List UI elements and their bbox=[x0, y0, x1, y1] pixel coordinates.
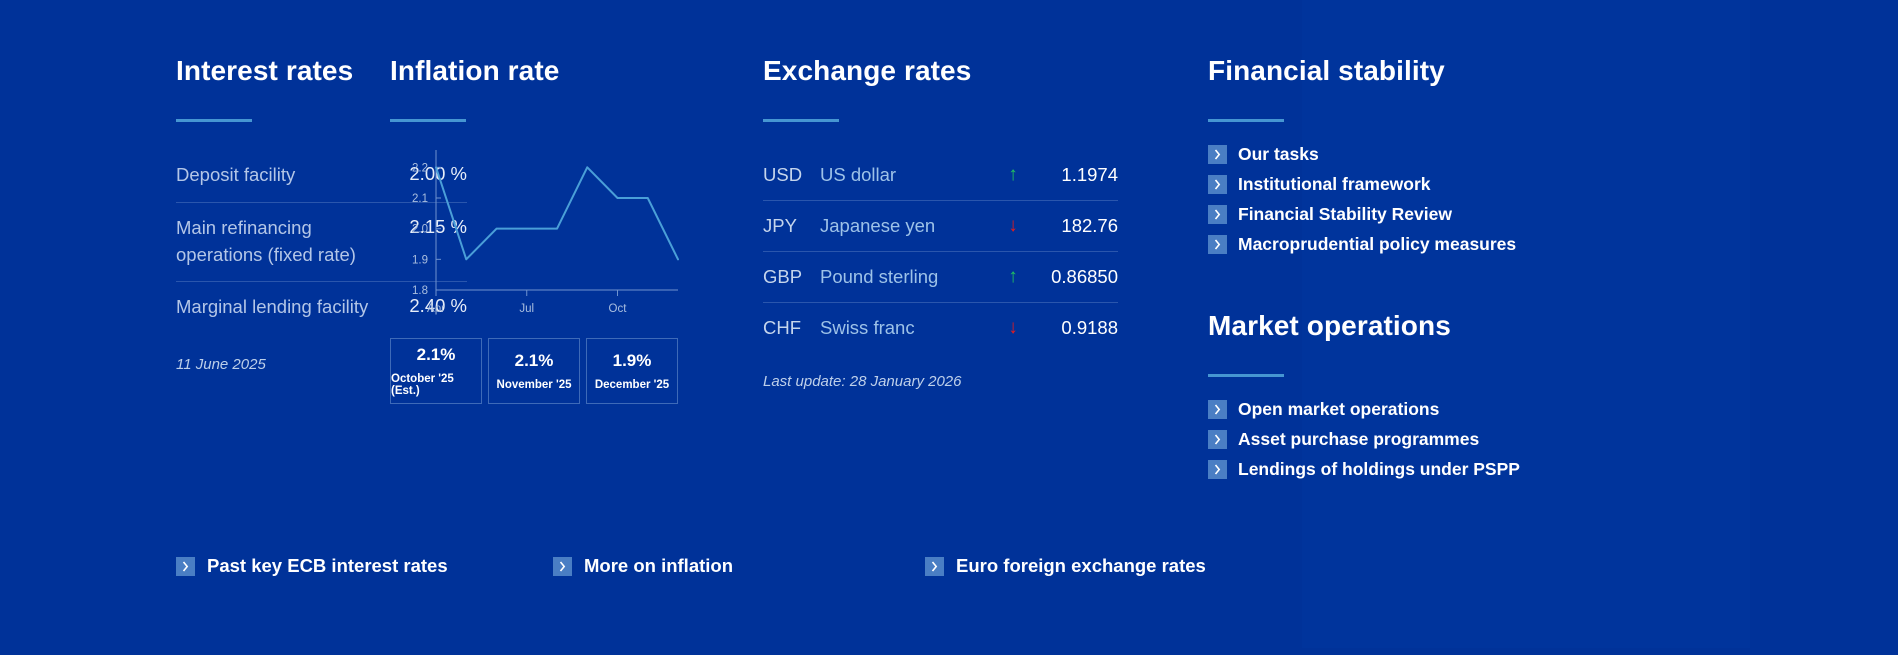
exchange-rates-table: USD US dollar ↑ 1.1974 JPY Japanese yen … bbox=[763, 150, 1118, 353]
market-operations-title: Market operations bbox=[1208, 310, 1631, 342]
link-item-asset-purchase-programmes[interactable]: Asset purchase programmes bbox=[1208, 429, 1631, 450]
chevron-right-icon bbox=[1208, 175, 1227, 194]
inflation-rate-rule bbox=[390, 119, 466, 122]
svg-text:Apr: Apr bbox=[427, 303, 445, 315]
svg-text:2.1: 2.1 bbox=[412, 193, 428, 205]
chevron-right-icon bbox=[1208, 400, 1227, 419]
bottom-links-row: Past key ECB interest rates More on infl… bbox=[0, 555, 1898, 595]
link-label: Euro foreign exchange rates bbox=[956, 555, 1206, 577]
chevron-right-icon bbox=[1208, 460, 1227, 479]
link-item-macroprudential-policy-measures[interactable]: Macroprudential policy measures bbox=[1208, 234, 1631, 255]
table-row: CHF Swiss franc ↓ 0.9188 bbox=[763, 303, 1118, 353]
market-operations-rule bbox=[1208, 374, 1284, 377]
link-item-financial-stability-review[interactable]: Financial Stability Review bbox=[1208, 204, 1631, 225]
exchange-rates-title: Exchange rates bbox=[763, 55, 1183, 87]
inflation-box: 2.1% October '25 (Est.) bbox=[390, 338, 482, 404]
link-past-key-ecb-interest-rates[interactable]: Past key ECB interest rates bbox=[176, 555, 448, 577]
trend-down-arrow-icon: ↓ bbox=[996, 215, 1030, 237]
currency-value: 0.86850 bbox=[1030, 266, 1118, 288]
link-label: Our tasks bbox=[1238, 144, 1319, 165]
financial-stability-rule bbox=[1208, 119, 1284, 122]
rate-label: Main refinancing operations (fixed rate) bbox=[176, 215, 381, 269]
inflation-rate-title: Inflation rate bbox=[390, 55, 763, 87]
svg-text:Oct: Oct bbox=[609, 303, 628, 315]
financial-stability-link-list: Our tasks Institutional framework Financ… bbox=[1208, 144, 1631, 255]
trend-up-arrow-icon: ↑ bbox=[996, 266, 1030, 288]
link-label: Lendings of holdings under PSPP bbox=[1238, 459, 1520, 480]
ecb-key-indicators-dashboard: Interest rates Deposit facility 2.00 % M… bbox=[0, 0, 1898, 655]
currency-value: 0.9188 bbox=[1030, 317, 1118, 339]
link-label: Institutional framework bbox=[1238, 174, 1431, 195]
interest-rates-rule bbox=[176, 119, 252, 122]
link-item-our-tasks[interactable]: Our tasks bbox=[1208, 144, 1631, 165]
rate-label: Marginal lending facility bbox=[176, 294, 368, 321]
exchange-rates-last-update: Last update: 28 January 2026 bbox=[763, 373, 1183, 390]
chevron-right-icon bbox=[176, 557, 195, 576]
svg-text:1.9: 1.9 bbox=[412, 254, 428, 266]
financial-stability-title: Financial stability bbox=[1208, 55, 1631, 87]
inflation-box-value: 2.1% bbox=[417, 345, 456, 365]
inflation-box-period: December '25 bbox=[595, 379, 669, 391]
currency-code: USD bbox=[763, 164, 820, 186]
currency-name: Pound sterling bbox=[820, 266, 996, 288]
currency-value: 1.1974 bbox=[1030, 164, 1118, 186]
currency-code: JPY bbox=[763, 215, 820, 237]
link-label: Asset purchase programmes bbox=[1238, 429, 1479, 450]
chevron-right-icon bbox=[1208, 145, 1227, 164]
currency-value: 182.76 bbox=[1030, 215, 1118, 237]
inflation-line-chart-svg: 1.81.92.02.12.2AprJulOct bbox=[390, 142, 682, 328]
chevron-right-icon bbox=[1208, 205, 1227, 224]
inflation-box-period: November '25 bbox=[497, 379, 572, 391]
trend-down-arrow-icon: ↓ bbox=[996, 317, 1030, 339]
inflation-value-boxes: 2.1% October '25 (Est.) 2.1% November '2… bbox=[390, 338, 763, 404]
currency-code: GBP bbox=[763, 266, 820, 288]
chevron-right-icon bbox=[553, 557, 572, 576]
rate-label: Deposit facility bbox=[176, 162, 295, 189]
table-row: GBP Pound sterling ↑ 0.86850 bbox=[763, 252, 1118, 303]
currency-name: Japanese yen bbox=[820, 215, 996, 237]
inflation-box: 2.1% November '25 bbox=[488, 338, 580, 404]
interest-rates-date: 11 June 2025 bbox=[176, 356, 390, 373]
inflation-box-value: 1.9% bbox=[613, 351, 652, 371]
inflation-box-period: October '25 (Est.) bbox=[391, 373, 481, 397]
chevron-right-icon bbox=[925, 557, 944, 576]
link-label: Past key ECB interest rates bbox=[207, 555, 448, 577]
trend-up-arrow-icon: ↑ bbox=[996, 164, 1030, 186]
currency-code: CHF bbox=[763, 317, 820, 339]
market-operations-link-list: Open market operations Asset purchase pr… bbox=[1208, 399, 1631, 480]
svg-text:1.8: 1.8 bbox=[412, 285, 428, 297]
link-label: Macroprudential policy measures bbox=[1238, 234, 1516, 255]
link-label: Financial Stability Review bbox=[1238, 204, 1452, 225]
table-row: JPY Japanese yen ↓ 182.76 bbox=[763, 201, 1118, 252]
currency-name: Swiss franc bbox=[820, 317, 996, 339]
table-row: USD US dollar ↑ 1.1974 bbox=[763, 150, 1118, 201]
link-euro-foreign-exchange-rates[interactable]: Euro foreign exchange rates bbox=[925, 555, 1206, 577]
inflation-box: 1.9% December '25 bbox=[586, 338, 678, 404]
chevron-right-icon bbox=[1208, 235, 1227, 254]
svg-text:2.0: 2.0 bbox=[412, 224, 428, 236]
inflation-box-value: 2.1% bbox=[515, 351, 554, 371]
link-more-on-inflation[interactable]: More on inflation bbox=[553, 555, 733, 577]
currency-name: US dollar bbox=[820, 164, 996, 186]
link-label: Open market operations bbox=[1238, 399, 1439, 420]
exchange-rates-rule bbox=[763, 119, 839, 122]
svg-text:2.2: 2.2 bbox=[412, 162, 428, 174]
inflation-chart: 1.81.92.02.12.2AprJulOct bbox=[390, 142, 682, 328]
link-item-institutional-framework[interactable]: Institutional framework bbox=[1208, 174, 1631, 195]
link-item-open-market-operations[interactable]: Open market operations bbox=[1208, 399, 1631, 420]
link-item-lendings-of-holdings-under-pspp[interactable]: Lendings of holdings under PSPP bbox=[1208, 459, 1631, 480]
interest-rates-title: Interest rates bbox=[176, 55, 390, 87]
link-label: More on inflation bbox=[584, 555, 733, 577]
svg-text:Jul: Jul bbox=[519, 303, 534, 315]
chevron-right-icon bbox=[1208, 430, 1227, 449]
